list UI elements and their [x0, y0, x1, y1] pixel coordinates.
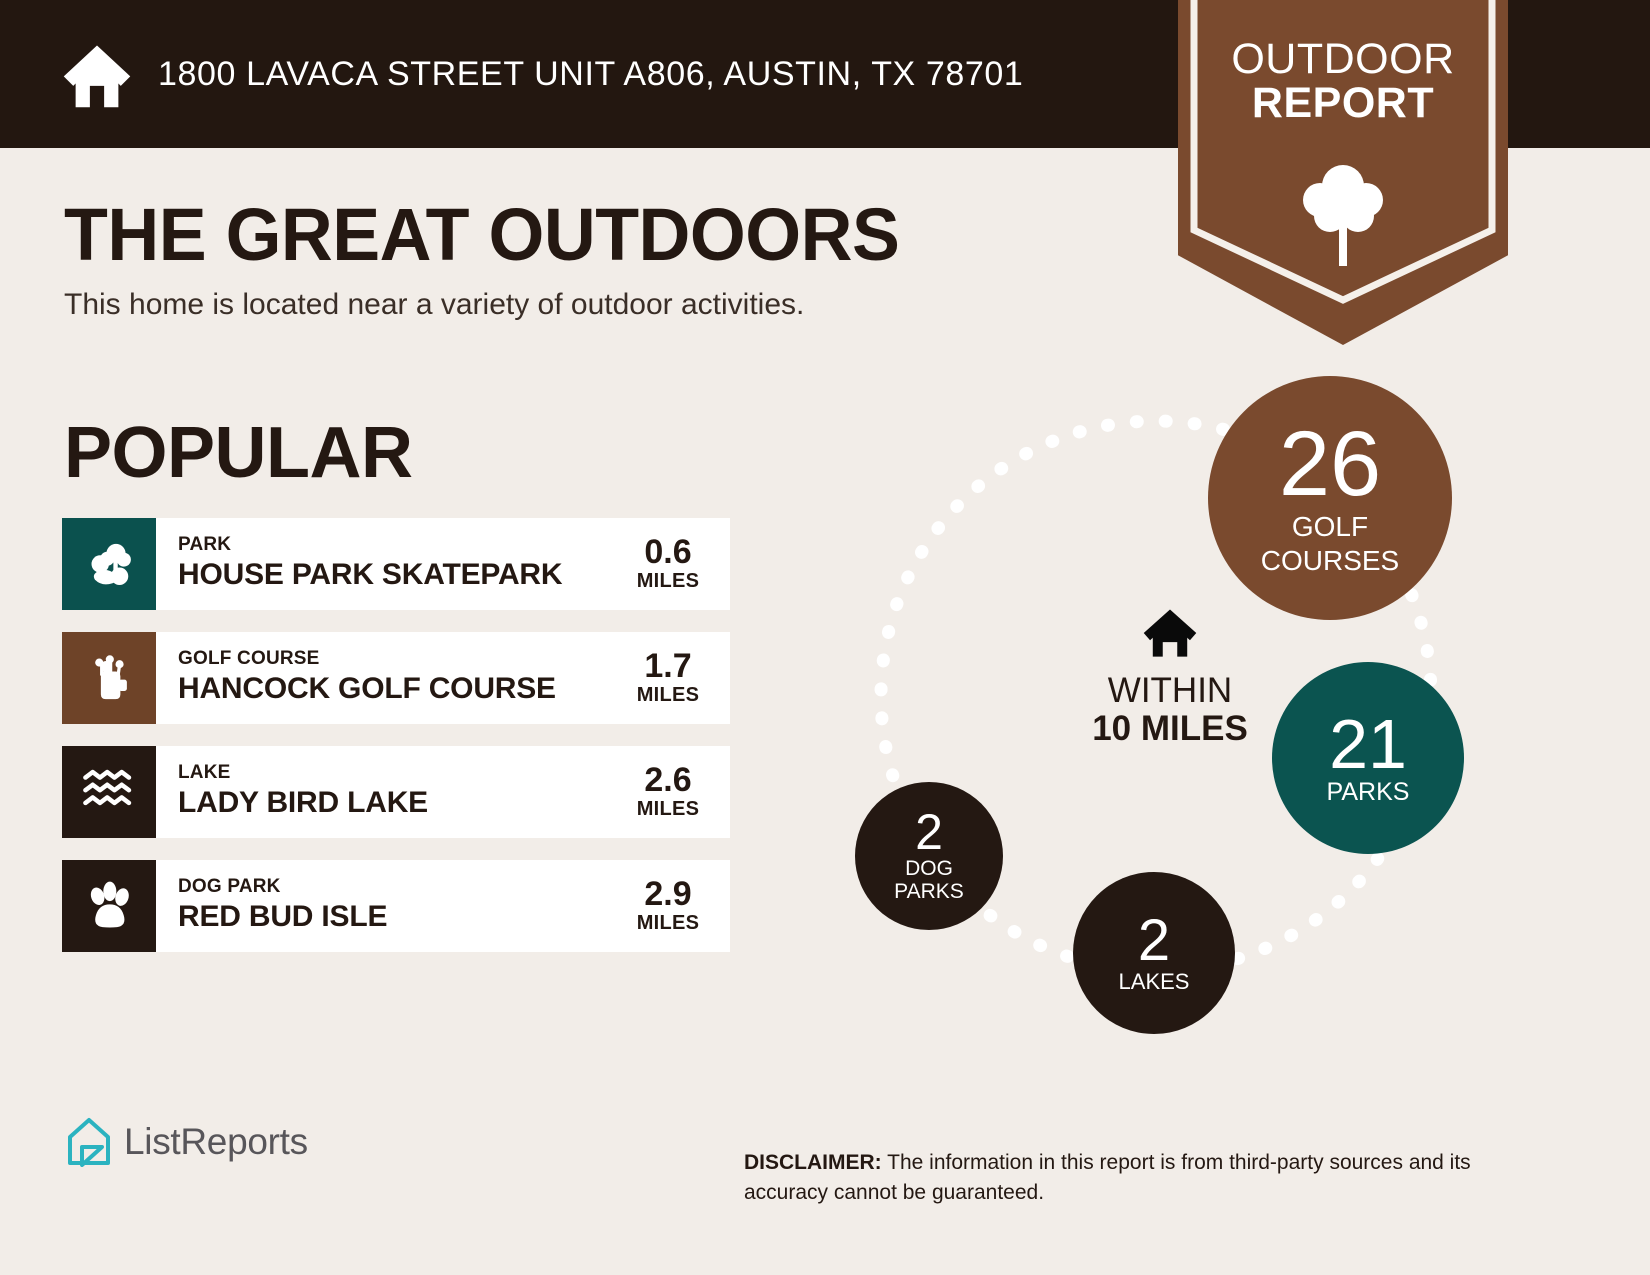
- chart-center-label: WITHIN 10 MILES: [1040, 602, 1300, 748]
- bubble-label-line1: LAKES: [1119, 970, 1190, 993]
- poi-distance: 1.7 MILES: [624, 649, 716, 708]
- house-icon: [58, 35, 136, 113]
- golf-bag-icon: [62, 632, 156, 724]
- list-item-body: GOLF COURSE HANCOCK GOLF COURSE 1.7 MILE…: [156, 632, 730, 724]
- bubble-lakes[interactable]: 2 LAKES: [1073, 872, 1235, 1034]
- bubble-label-line2: PARKS: [894, 881, 964, 903]
- list-item[interactable]: DOG PARK RED BUD ISLE 2.9 MILES: [62, 860, 730, 952]
- poi-distance: 2.6 MILES: [624, 763, 716, 822]
- paw-print-icon: [62, 860, 156, 952]
- water-waves-icon: [62, 746, 156, 838]
- listreports-house-logo-icon: [66, 1117, 112, 1167]
- bubble-value: 2: [915, 809, 943, 857]
- poi-distance-unit: MILES: [624, 798, 712, 821]
- poi-name: RED BUD ISLE: [178, 899, 624, 936]
- tree-icon: [1278, 160, 1408, 270]
- page-title: THE GREAT OUTDOORS: [64, 192, 899, 277]
- bubble-label-line2: COURSES: [1261, 546, 1399, 575]
- property-address: 1800 LAVACA STREET UNIT A806, AUSTIN, TX…: [158, 55, 1023, 94]
- list-item[interactable]: GOLF COURSE HANCOCK GOLF COURSE 1.7 MILE…: [62, 632, 730, 724]
- popular-heading: POPULAR: [64, 412, 413, 494]
- listreports-wordmark: ListReports: [124, 1121, 308, 1163]
- list-item-body: LAKE LADY BIRD LAKE 2.6 MILES: [156, 746, 730, 838]
- bubble-golf-courses[interactable]: 26 GOLF COURSES: [1208, 376, 1452, 620]
- outdoor-report-infographic: 1800 LAVACA STREET UNIT A806, AUSTIN, TX…: [0, 0, 1650, 1275]
- within-10-miles-bubble-chart: 26 GOLF COURSES 21 PARKS 2 LAKES 2 DOG P…: [820, 370, 1520, 1060]
- listreports-logo[interactable]: ListReports: [66, 1117, 308, 1167]
- page-subtitle: This home is located near a variety of o…: [64, 288, 804, 322]
- badge-line-1: OUTDOOR: [1178, 38, 1508, 82]
- poi-category: GOLF COURSE: [178, 648, 624, 671]
- disclaimer-label: DISCLAIMER:: [744, 1151, 882, 1174]
- poi-distance-value: 1.7: [624, 649, 712, 685]
- center-label-line2: 10 MILES: [1040, 710, 1300, 748]
- poi-category: DOG PARK: [178, 876, 624, 899]
- popular-list: PARK HOUSE PARK SKATEPARK 0.6 MILES: [62, 518, 730, 974]
- bubble-label-line1: GOLF: [1292, 512, 1368, 541]
- poi-distance-unit: MILES: [624, 684, 712, 707]
- list-item[interactable]: PARK HOUSE PARK SKATEPARK 0.6 MILES: [62, 518, 730, 610]
- badge-title: OUTDOOR REPORT: [1178, 38, 1508, 126]
- poi-category: LAKE: [178, 762, 624, 785]
- bubble-value: 2: [1138, 913, 1170, 968]
- poi-distance-value: 0.6: [624, 535, 712, 571]
- house-icon: [1040, 602, 1300, 664]
- poi-name: HANCOCK GOLF COURSE: [178, 671, 624, 708]
- poi-distance-unit: MILES: [624, 570, 712, 593]
- bubble-label-line1: PARKS: [1327, 779, 1410, 805]
- poi-name: LADY BIRD LAKE: [178, 785, 624, 822]
- list-item-body: PARK HOUSE PARK SKATEPARK 0.6 MILES: [156, 518, 730, 610]
- poi-distance-value: 2.6: [624, 763, 712, 799]
- poi-distance: 2.9 MILES: [624, 877, 716, 936]
- badge-line-2: REPORT: [1178, 82, 1508, 126]
- poi-category: PARK: [178, 534, 624, 557]
- park-tree-icon: [62, 518, 156, 610]
- bubble-dog-parks[interactable]: 2 DOG PARKS: [855, 782, 1003, 930]
- bubble-value: 21: [1329, 711, 1407, 778]
- center-label-line1: WITHIN: [1040, 672, 1300, 710]
- poi-distance: 0.6 MILES: [624, 535, 716, 594]
- bubble-parks[interactable]: 21 PARKS: [1272, 662, 1464, 854]
- poi-name: HOUSE PARK SKATEPARK: [178, 557, 624, 594]
- bubble-value: 26: [1279, 421, 1381, 508]
- disclaimer: DISCLAIMER: The information in this repo…: [744, 1148, 1554, 1208]
- bubble-label-line1: DOG: [905, 858, 953, 880]
- poi-distance-value: 2.9: [624, 877, 712, 913]
- poi-distance-unit: MILES: [624, 912, 712, 935]
- list-item-body: DOG PARK RED BUD ISLE 2.9 MILES: [156, 860, 730, 952]
- list-item[interactable]: LAKE LADY BIRD LAKE 2.6 MILES: [62, 746, 730, 838]
